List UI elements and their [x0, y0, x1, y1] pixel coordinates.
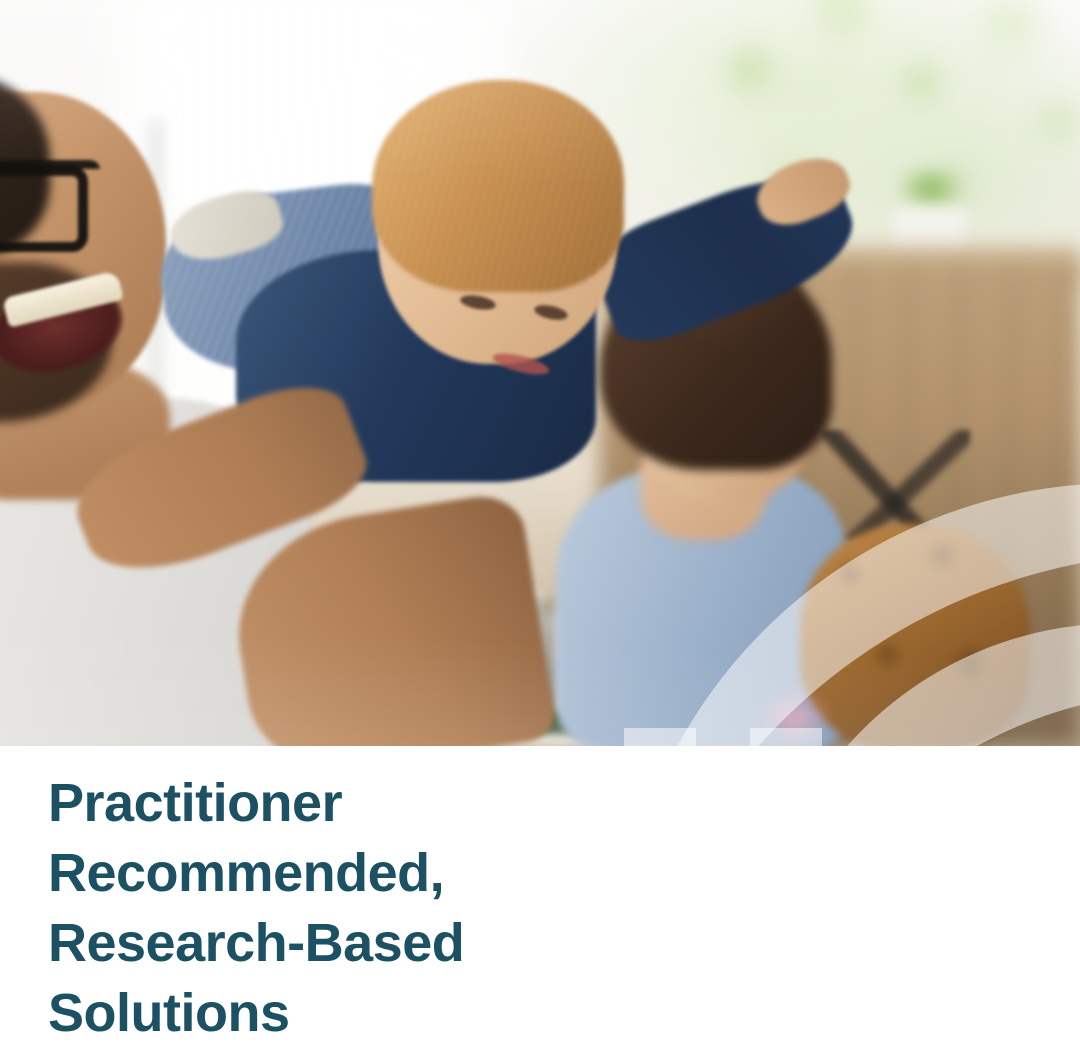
headline-line-4: Solutions [48, 978, 668, 1048]
headline-panel: Practitioner Recommended, Research-Based… [0, 746, 1080, 1061]
curly-child-hair [800, 524, 1030, 746]
headline-line-3: Research-Based [48, 908, 668, 978]
headline-line-2: Recommended, [48, 838, 668, 908]
hero-photo [0, 0, 1080, 746]
curly-child-item [760, 690, 830, 746]
marketing-banner: Practitioner Recommended, Research-Based… [0, 0, 1080, 1061]
eyeglasses [0, 160, 100, 246]
page-title: Practitioner Recommended, Research-Based… [48, 768, 668, 1048]
child-blond-hair [372, 80, 624, 292]
headline-line-1: Practitioner [48, 768, 668, 838]
